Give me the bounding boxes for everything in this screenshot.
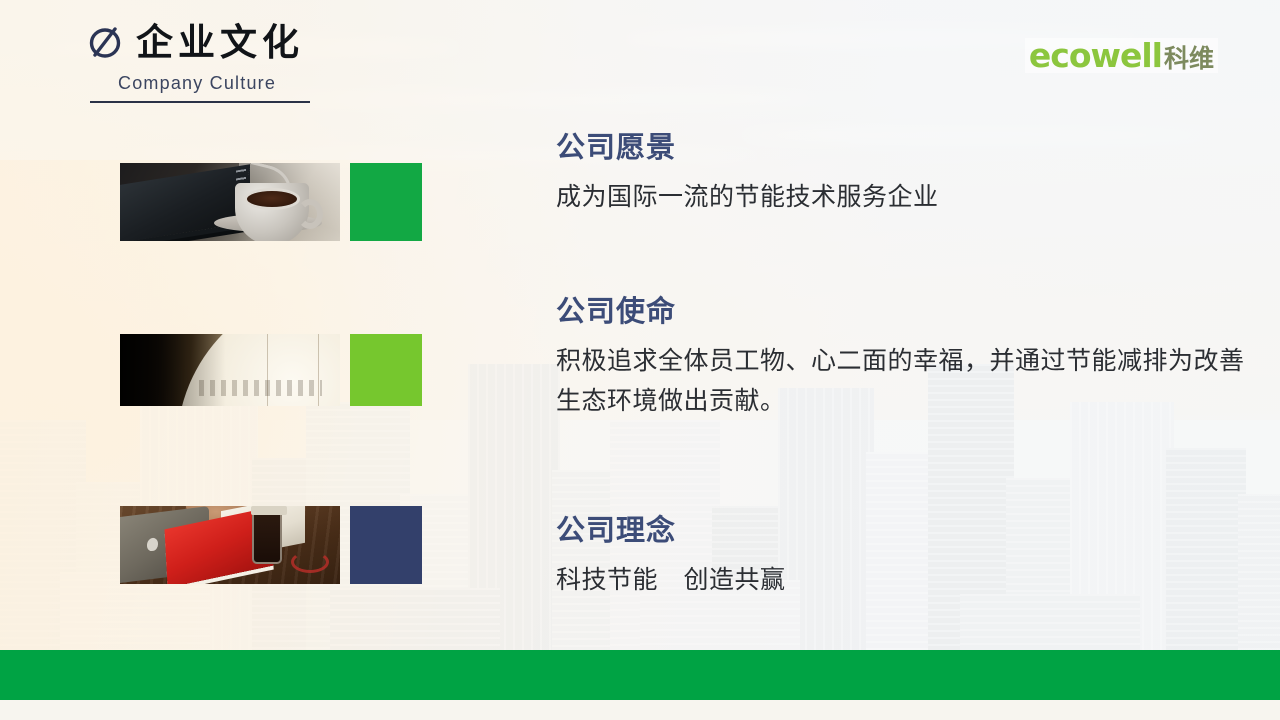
block-heading: 公司使命 [556,294,1256,329]
logo-wordmark: ecowell [1029,39,1162,72]
block-body: 积极追求全体员工物、心二面的幸福，并通过节能减排为改善生态环境做出贡献。 [556,341,1256,422]
globe-photo [120,334,340,406]
page-subtitle: Company Culture [118,73,310,94]
swatch-green [350,163,422,241]
slide-company-culture: 企业文化 Company Culture ecowell 科维 [0,0,1280,720]
block-heading: 公司理念 [556,513,786,548]
block-company-mission: 公司使命 积极追求全体员工物、心二面的幸福，并通过节能减排为改善生态环境做出贡献… [556,294,1256,422]
circle-slash-icon [88,22,122,62]
footer-base [0,700,1280,720]
title-underline [90,101,310,103]
desk-laptop-notebook-photo [120,506,340,584]
page-title: 企业文化 [136,24,304,61]
swatch-navy [350,506,422,584]
block-company-philosophy: 公司理念 科技节能 创造共赢 [556,513,786,600]
swatch-lime [350,334,422,406]
block-company-vision: 公司愿景 成为国际一流的节能技术服务企业 [556,130,939,217]
footer-green-bar [0,650,1280,700]
ecowell-logo: ecowell 科维 [1025,38,1218,73]
slide-header: 企业文化 Company Culture [88,22,310,103]
logo-wordmark-cn: 科维 [1164,46,1214,71]
block-heading: 公司愿景 [556,130,939,165]
notebook-and-coffee-photo [120,163,340,241]
block-body: 科技节能 创造共赢 [556,560,786,601]
block-body: 成为国际一流的节能技术服务企业 [556,177,939,218]
